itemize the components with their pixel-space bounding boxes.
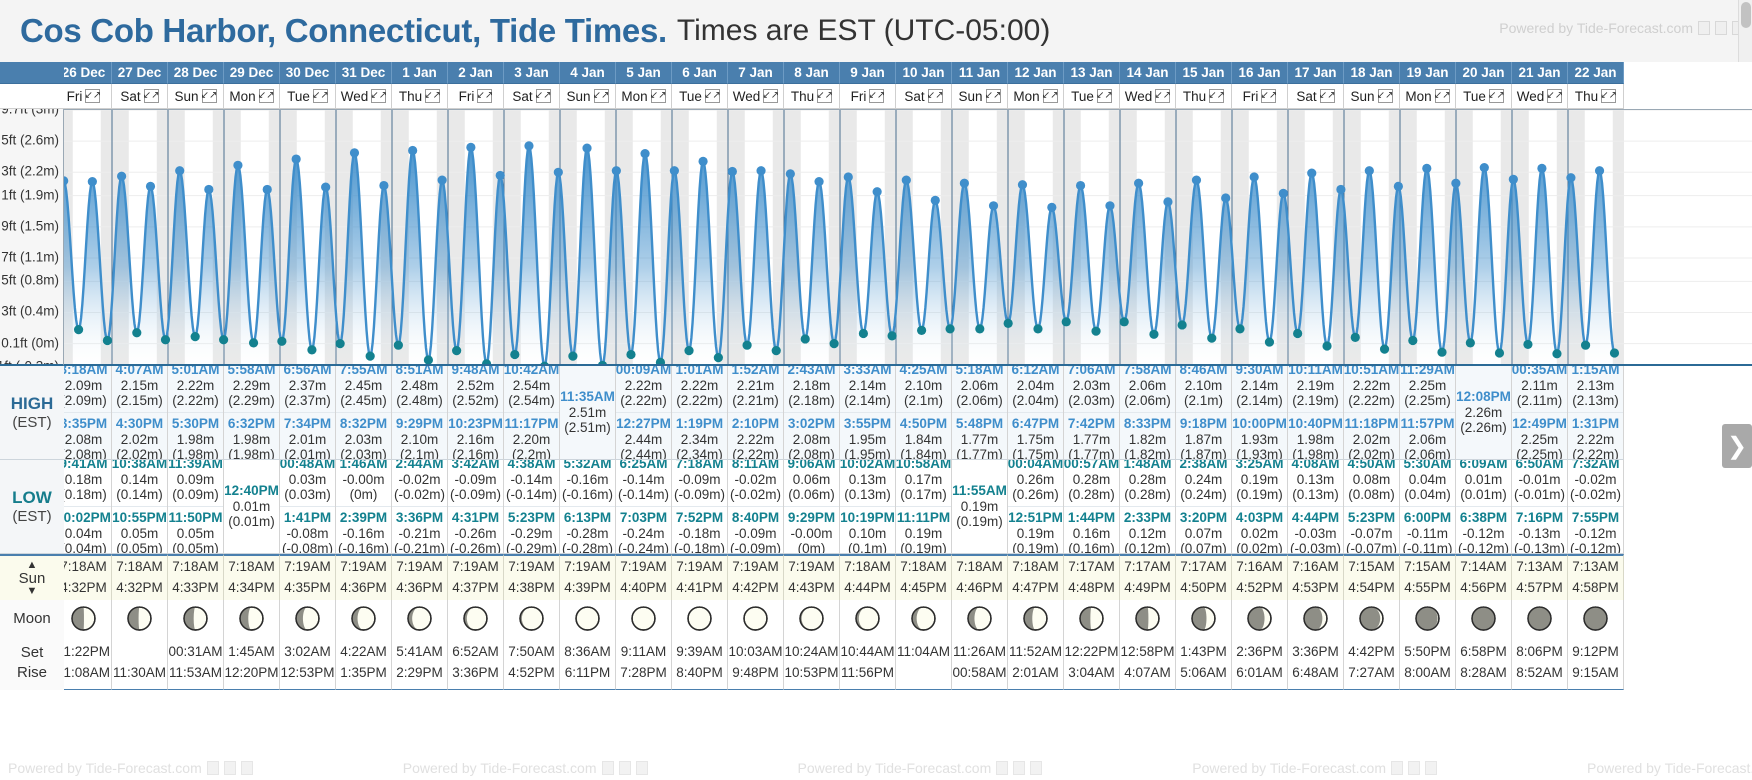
tide-event-time: 8:32PM (340, 416, 387, 432)
tide-event-height: 0.04m (65, 526, 103, 542)
tide-event-height-alt: (-0.28m) (562, 541, 613, 554)
weekday-label: Mon (621, 89, 647, 104)
tide-event: 3:25AM0.19m(0.19m) (1235, 460, 1283, 503)
sunset-arrow-icon: ▼ (27, 586, 38, 597)
high-tide-cell: 5:18AM2.06m(2.06m)5:48PM1.77m(1.77m) (952, 366, 1008, 460)
day-date-header[interactable]: 31 Dec (336, 62, 392, 84)
tide-event: 00:09AM2.22m(2.22m) (616, 366, 671, 409)
tide-event-time: 7:55PM (1572, 510, 1619, 526)
low-tide-marker (917, 326, 926, 335)
moonrise-label: Rise (17, 663, 47, 683)
high-tide-cell: 2:43AM2.18m(2.18m)3:02PM2.08m(2.08m) (784, 366, 840, 460)
day-weekday-header: Tue↙↗ (1456, 84, 1512, 109)
moonrise-time: 7:28PM (620, 663, 667, 683)
expand-icon[interactable]: ↙↗ (1155, 89, 1170, 103)
moon-cell (448, 600, 504, 636)
tide-event-time: 10:42AM (504, 366, 559, 378)
sunrise-time: 7:19AM (340, 557, 387, 578)
tide-event: 3:36PM-0.21m(-0.21m) (392, 506, 447, 554)
low-tide-marker (684, 346, 693, 355)
expand-icon[interactable]: ↙↗ (1378, 89, 1393, 103)
expand-icon[interactable]: ↙↗ (869, 89, 884, 103)
day-weekday-header: Sun↙↗ (1344, 84, 1400, 109)
expand-icon[interactable]: ↙↗ (986, 89, 1001, 103)
tide-event-height: -0.07m (1350, 526, 1392, 542)
tide-event-time: 12:51PM (1008, 510, 1063, 526)
weekday-label: Wed (341, 89, 369, 104)
moonrise-time: 9:15AM (1572, 663, 1619, 683)
high-tide-marker (408, 146, 417, 155)
moonrise-time: 6:48AM (1292, 663, 1339, 683)
tide-event-height: 2.03m (345, 432, 383, 448)
powered-by-text: Powered by Tide-Forecast.com (1499, 20, 1693, 36)
high-tide-marker (1134, 179, 1143, 188)
high-tide-marker (873, 187, 882, 196)
day-weekday-header: Mon↙↗ (1008, 84, 1064, 109)
tide-event: 4:08AM0.13m(0.13m) (1291, 460, 1339, 503)
tide-event-height: 1.98m (1297, 432, 1335, 448)
day-date-header[interactable]: 14 Jan (1120, 62, 1176, 84)
tide-event-time: 6:32PM (228, 416, 275, 432)
low-tide-cell: 10:02AM0.13m(0.13m)10:19PM0.10m(0.1m) (840, 460, 896, 554)
tide-event-time: 10:40PM (1288, 416, 1343, 432)
moon-phase-icon (519, 606, 544, 631)
moon-cell (1568, 600, 1624, 636)
moon-cell (1232, 600, 1288, 636)
expand-icon[interactable]: ↙↗ (536, 89, 551, 103)
tide-event-height: -0.02m (734, 472, 776, 488)
expand-icon[interactable]: ↙↗ (1043, 89, 1058, 103)
expand-icon[interactable]: ↙↗ (1261, 89, 1276, 103)
day-date-header[interactable]: 16 Jan (1232, 62, 1288, 84)
tide-event: 8:11AM-0.02m(-0.02m) (730, 460, 781, 503)
weekday-label: Sun (1350, 89, 1374, 104)
low-tide-cell: 9:06AM0.06m(0.06m)9:29PM-0.00m(0m) (784, 460, 840, 554)
tide-event-height: 2.48m (401, 378, 439, 394)
high-tide-cell: 10:42AM2.54m(2.54m)11:17PM2.20m(2.2m) (504, 366, 560, 460)
tide-event-height: 2.22m (737, 432, 775, 448)
day-date-header[interactable]: 27 Dec (112, 62, 168, 84)
scrollbar-thumb[interactable] (1741, 2, 1751, 28)
tide-event-time: 00:57AM (1064, 460, 1119, 472)
day-date-header[interactable]: 3 Jan (504, 62, 560, 84)
day-date-header[interactable]: 28 Dec (168, 62, 224, 84)
scroll-right-button[interactable]: ❯ (1722, 424, 1752, 468)
low-tide-cell: 6:50AM-0.01m(-0.01m)7:16PM-0.13m(-0.13m) (1512, 460, 1568, 554)
low-tide-marker (742, 341, 751, 350)
tide-event-time: 10:55PM (112, 510, 167, 526)
moon-set-rise-cell: 11:52AM2:01AM (1008, 636, 1064, 690)
low-tide-marker (1004, 319, 1013, 328)
moonset-time: 4:42PM (1348, 642, 1395, 662)
tide-event-time: 11:35AM (560, 389, 615, 405)
tide-event-time: 6:47PM (1012, 416, 1059, 432)
tide-event-height: 2.22m (1353, 378, 1391, 394)
expand-icon[interactable]: ↙↗ (85, 89, 100, 103)
expand-icon[interactable]: ↙↗ (763, 89, 778, 103)
day-weekday-header: Tue↙↗ (1064, 84, 1120, 109)
tide-event: 10:42AM2.54m(2.54m) (504, 366, 559, 409)
tide-event-time: 8:51AM (395, 366, 443, 378)
day-date-header[interactable]: 7 Jan (728, 62, 784, 84)
sun-cell: 7:19AM4:43PM (784, 554, 840, 600)
tide-event: 4:30PM2.02m(2.02m) (112, 412, 167, 460)
moon-set-rise-cell: 4:22AM1:35PM (336, 636, 392, 690)
tide-event: 00:04AM0.26m(0.26m) (1008, 460, 1063, 503)
sun-cell: 7:19AM4:36PM (336, 554, 392, 600)
tide-event: 9:41AM0.18m(0.18m) (64, 460, 108, 503)
page-header: Cos Cob Harbor, Connecticut, Tide Times.… (0, 0, 1752, 62)
tide-event-height: 1.82m (1129, 432, 1167, 448)
tide-event-height-alt: (-0.29m) (506, 541, 557, 554)
day-date-header[interactable]: 12 Jan (1008, 62, 1064, 84)
day-date-header[interactable]: 20 Jan (1456, 62, 1512, 84)
moonset-time: 11:26AM (953, 642, 1006, 662)
expand-icon[interactable]: ↙↗ (371, 89, 386, 103)
tide-event: 10:38AM0.14m(0.14m) (112, 460, 167, 503)
moon-phase-icon (239, 606, 264, 631)
day-date-header[interactable]: 17 Jan (1288, 62, 1344, 84)
tide-event-height-alt: (2.22m) (620, 393, 667, 409)
day-date-header[interactable]: 30 Dec (280, 62, 336, 84)
day-weekday-header: Mon↙↗ (1400, 84, 1456, 109)
moon-set-rise-cell: 9:11AM7:28PM (616, 636, 672, 690)
moon-set-rise-cell: 4:42PM7:27AM (1344, 636, 1400, 690)
row-label-set-rise: Set Rise (0, 636, 64, 690)
tide-event-time: 7:32AM (1571, 460, 1619, 472)
moonset-time: 11:04AM (897, 642, 950, 662)
moonset-time: 7:50AM (508, 642, 555, 662)
tide-event-time: 1:48AM (1123, 460, 1171, 472)
day-date-header[interactable]: 6 Jan (672, 62, 728, 84)
tide-event: 2:38AM0.24m(0.24m) (1179, 460, 1227, 503)
weekday-label: Sat (512, 89, 532, 104)
tide-event-height-alt: (2.04m) (1012, 393, 1059, 409)
low-tide-marker (1523, 340, 1532, 349)
tide-event: 11:50PM0.05m(0.05m) (168, 506, 223, 554)
expand-icon[interactable]: ↙↗ (705, 89, 720, 103)
high-tide-marker (554, 168, 563, 177)
low-tide-cell: 3:42AM-0.09m(-0.09m)4:31PM-0.26m(-0.26m) (448, 460, 504, 554)
sunrise-time: 7:19AM (284, 557, 331, 578)
day-date-header[interactable]: 1 Jan (392, 62, 448, 84)
tide-event: 7:16PM-0.13m(-0.13m) (1512, 506, 1567, 554)
moonrise-time: 6:01AM (1236, 663, 1283, 683)
moon-phase-icon (1303, 606, 1328, 631)
moonrise-time: 9:48PM (732, 663, 779, 683)
expand-icon[interactable]: ↙↗ (1320, 89, 1335, 103)
sunset-time: 4:32PM (64, 578, 107, 599)
day-date-header[interactable]: 4 Jan (560, 62, 616, 84)
tide-event-time: 10:19PM (840, 510, 895, 526)
tide-event-height: 2.54m (513, 378, 551, 394)
tide-event: 6:13PM-0.28m(-0.28m) (560, 506, 615, 554)
tide-event: 1:31PM2.22m(2.22m) (1568, 412, 1623, 460)
low-tide-marker (132, 328, 141, 337)
day-date-header[interactable]: 26 Dec (64, 62, 112, 84)
day-date-header[interactable]: 15 Jan (1176, 62, 1232, 84)
moonset-time: 11:52AM (1009, 642, 1062, 662)
tide-event: 11:55AM0.19m(0.19m) (952, 483, 1007, 530)
sun-cell: 7:19AM4:40PM (616, 554, 672, 600)
day-date-header[interactable]: 11 Jan (952, 62, 1008, 84)
high-tide-marker (960, 179, 969, 188)
high-timezone-label: (EST) (12, 414, 51, 431)
moonset-time: 5:50PM (1404, 642, 1451, 662)
day-date-header[interactable]: 29 Dec (224, 62, 280, 84)
tide-event-time: 4:50AM (1347, 460, 1395, 472)
day-date-header[interactable]: 21 Jan (1512, 62, 1568, 84)
day-weekday-header: Sun↙↗ (952, 84, 1008, 109)
high-tide-marker (786, 169, 795, 178)
low-tide-cell: 10:38AM0.14m(0.14m)10:55PM0.05m(0.05m) (112, 460, 168, 554)
sun-cell: 7:15AM4:55PM (1400, 554, 1456, 600)
row-label-low: LOW (EST) (0, 460, 64, 554)
low-tide-marker (1380, 344, 1389, 353)
high-tide-marker (756, 166, 765, 175)
moon-set-rise-cell: 3:36PM6:48AM (1288, 636, 1344, 690)
expand-icon[interactable]: ↙↗ (651, 89, 666, 103)
high-tide-cell: 10:51AM2.22m(2.22m)11:18PM2.02m(2.02m) (1344, 366, 1400, 460)
tide-event-height: -0.00m (342, 472, 384, 488)
weekday-label: Sun (958, 89, 982, 104)
high-tide-cell: 6:56AM2.37m(2.37m)7:34PM2.01m(2.01m) (280, 366, 336, 460)
high-tide-cell: 7:58AM2.06m(2.06m)8:33PM1.82m(1.82m) (1120, 366, 1176, 460)
tide-event: 11:57PM2.06m(2.06m) (1400, 412, 1455, 460)
moonset-time: 12:22PM (1064, 642, 1118, 662)
tide-event: 9:18PM1.87m(1.87m) (1176, 412, 1231, 460)
high-tide-marker (931, 196, 940, 205)
moon-set-rise-cell: 11:26AM00:58AM (952, 636, 1008, 690)
tide-event-height: 2.10m (1185, 378, 1223, 394)
tide-event-time: 4:30PM (116, 416, 163, 432)
tide-event-height-alt: (0.07m) (1180, 541, 1227, 554)
low-tide-cell: 11:55AM0.19m(0.19m) (952, 460, 1008, 554)
tide-event-height: 0.08m (1353, 472, 1391, 488)
tide-event-height: -0.24m (622, 526, 664, 542)
weekday-label: Fri (1243, 89, 1259, 104)
page-scrollbar[interactable] (1738, 0, 1752, 62)
expand-icon[interactable]: ↙↗ (1489, 89, 1504, 103)
tide-event-height-alt: (0.01m) (228, 514, 275, 530)
sunrise-time: 7:19AM (788, 557, 835, 578)
moon-cell (504, 600, 560, 636)
low-tide-marker (424, 355, 433, 364)
moon-cell (1512, 600, 1568, 636)
moon-phase-icon (295, 606, 320, 631)
day-date-header[interactable]: 13 Jan (1064, 62, 1120, 84)
tide-event: 4:25AM2.10m(2.1m) (899, 366, 947, 409)
tide-event-height: 2.25m (1521, 432, 1559, 448)
tide-event: 10:19PM0.10m(0.1m) (840, 506, 895, 554)
moon-set-rise-cell: 8:06PM8:52AM (1512, 636, 1568, 690)
tide-event: 11:39AM0.09m(0.09m) (168, 460, 223, 503)
low-tide-cell: 5:32AM-0.16m(-0.16m)6:13PM-0.28m(-0.28m) (560, 460, 616, 554)
expand-icon[interactable]: ↙↗ (1209, 89, 1224, 103)
tide-event: 1:48AM0.28m(0.28m) (1123, 460, 1171, 503)
tide-event-time: 5:23PM (1348, 510, 1395, 526)
tide-event-height: 2.44m (625, 432, 663, 448)
low-timezone-label: (EST) (12, 508, 51, 525)
expand-icon[interactable]: ↙↗ (259, 89, 274, 103)
sunrise-time: 7:18AM (116, 557, 163, 578)
tide-event-height: 1.95m (849, 432, 887, 448)
sunset-time: 4:42PM (732, 578, 779, 599)
tide-event-height-alt: (2.52m) (452, 393, 499, 409)
high-tide-cell: 5:58AM2.29m(2.29m)6:32PM1.98m(1.98m) (224, 366, 280, 460)
day-date-header[interactable]: 22 Jan (1568, 62, 1624, 84)
day-date-header[interactable]: 2 Jan (448, 62, 504, 84)
day-weekday-header: Thu↙↗ (784, 84, 840, 109)
tide-event-height: 2.06m (961, 378, 999, 394)
sunset-time: 4:35PM (284, 578, 331, 599)
tide-event-height: 2.22m (625, 378, 663, 394)
low-tide-cell: 4:50AM0.08m(0.08m)5:23PM-0.07m(-0.07m) (1344, 460, 1400, 554)
tide-event-height-alt: (0.04m) (64, 541, 107, 554)
day-date-header[interactable]: 10 Jan (896, 62, 952, 84)
sun-cell: 7:18AM4:47PM (1008, 554, 1064, 600)
tide-event-height: -0.28m (566, 526, 608, 542)
weekday-label: Thu (399, 89, 422, 104)
tide-event-height: 0.07m (1185, 526, 1223, 542)
high-tide-marker (117, 172, 126, 181)
high-tide-marker (1394, 182, 1403, 191)
high-tide-marker (989, 201, 998, 210)
expand-icon[interactable]: ↙↗ (313, 89, 328, 103)
tide-event-height-alt: (-0.26m) (450, 541, 501, 554)
tide-event: 10:00PM1.93m(1.93m) (1232, 412, 1287, 460)
high-tide-marker (1279, 189, 1288, 198)
tide-event-height: 2.10m (401, 432, 439, 448)
day-date-header[interactable]: 19 Jan (1400, 62, 1456, 84)
weekday-label: Tue (1463, 89, 1486, 104)
tide-event-time: 1:46AM (339, 460, 387, 472)
moonrise-time: 11:30AM (113, 663, 166, 683)
expand-icon[interactable]: ↙↗ (817, 89, 832, 103)
tide-event-height: 0.19m (1241, 472, 1279, 488)
y-axis-tick-label: 9.7ft (3m) (1, 109, 59, 117)
expand-icon[interactable]: ↙↗ (202, 89, 217, 103)
tide-event-height-alt: (2.02m) (1348, 447, 1395, 460)
tide-event-time: 4:25AM (899, 366, 947, 378)
tide-event: 7:18AM-0.09m(-0.09m) (674, 460, 725, 503)
moon-cell (1064, 600, 1120, 636)
moonset-time: 12:58PM (1120, 642, 1174, 662)
tide-event-time: 12:08PM (1456, 389, 1511, 405)
expand-icon[interactable]: ↙↗ (1097, 89, 1112, 103)
expand-icon[interactable]: ↙↗ (477, 89, 492, 103)
high-tide-marker (582, 144, 591, 153)
high-tide-marker (728, 167, 737, 176)
expand-icon[interactable]: ↙↗ (1547, 89, 1562, 103)
moon-phase-icon (855, 606, 880, 631)
tide-event-height-alt: (0.1m) (848, 541, 887, 554)
high-tide-cell: 8:46AM2.10m(2.1m)9:18PM1.87m(1.87m) (1176, 366, 1232, 460)
tide-event-height: 0.03m (289, 472, 327, 488)
low-tide-cell: 1:46AM-0.00m(0m)2:39PM-0.16m(-0.16m) (336, 460, 392, 554)
tide-event-time: 9:41AM (64, 460, 108, 472)
low-tide-marker (568, 352, 577, 361)
tide-event-height-alt: (0.08m) (1348, 487, 1395, 503)
expand-icon[interactable]: ↙↗ (144, 89, 159, 103)
tide-event-height: -0.16m (342, 526, 384, 542)
tide-event-height-alt: (0.02m) (1236, 541, 1283, 554)
low-tide-marker (1091, 327, 1100, 336)
high-tide-cell: 1:01AM2.22m(2.22m)1:19PM2.34m(2.34m) (672, 366, 728, 460)
low-tide-cell: 4:08AM0.13m(0.13m)4:44PM-0.03m(-0.03m) (1288, 460, 1344, 554)
sun-cell: 7:18AM4:34PM (224, 554, 280, 600)
tide-event-height: -0.14m (622, 472, 664, 488)
high-tide-marker (379, 181, 388, 190)
day-date-header[interactable]: 18 Jan (1344, 62, 1400, 84)
moonrise-time: 8:52AM (1516, 663, 1563, 683)
day-weekday-header: Mon↙↗ (224, 84, 280, 109)
tide-event-height-alt: (1.98m) (172, 447, 219, 460)
tide-event: 10:11AM2.19m(2.19m) (1288, 366, 1343, 409)
moon-cell (1008, 600, 1064, 636)
sunrise-time: 7:16AM (1236, 557, 1283, 578)
tide-event: 6:32PM1.98m(1.98m) (224, 412, 279, 460)
moon-phase-icon (1191, 606, 1216, 631)
tide-event-height-alt: (1.95m) (844, 447, 891, 460)
expand-icon[interactable]: ↙↗ (594, 89, 609, 103)
tide-event-height: 0.10m (849, 526, 887, 542)
tide-event: 10:23PM2.16m(2.16m) (448, 412, 503, 460)
tide-event: 00:48AM0.03m(0.03m) (280, 460, 335, 503)
low-tide-cell: 3:25AM0.19m(0.19m)4:03PM0.02m(0.02m) (1232, 460, 1288, 554)
high-tide-cell: 4:25AM2.10m(2.1m)4:50PM1.84m(1.84m) (896, 366, 952, 460)
tide-event-time: 11:39AM (168, 460, 223, 472)
moon-phase-icon (183, 606, 208, 631)
tide-event: 9:48AM2.52m(2.52m) (451, 366, 499, 409)
low-tide-marker (1265, 337, 1274, 346)
expand-icon[interactable]: ↙↗ (928, 89, 943, 103)
tide-event: 6:47PM1.75m(1.75m) (1008, 412, 1063, 460)
tide-event-height: -0.26m (454, 526, 496, 542)
tide-event-height-alt: (2.22m) (172, 393, 219, 409)
day-weekday-header: Thu↙↗ (1568, 84, 1624, 109)
expand-icon[interactable]: ↙↗ (425, 89, 440, 103)
day-date-header[interactable]: 8 Jan (784, 62, 840, 84)
moon-cell (1344, 600, 1400, 636)
day-date-header[interactable]: 5 Jan (616, 62, 672, 84)
sunset-time: 4:36PM (340, 578, 387, 599)
tide-event: 3:55PM1.95m(1.95m) (840, 412, 895, 460)
tide-event-time: 2:39PM (340, 510, 387, 526)
day-date-header[interactable]: 9 Jan (840, 62, 896, 84)
weekday-label: Fri (851, 89, 867, 104)
tide-event: 6:50AM-0.01m(-0.01m) (1514, 460, 1565, 503)
tide-event-height-alt: (0.04m) (1404, 487, 1451, 503)
expand-icon[interactable]: ↙↗ (1435, 89, 1450, 103)
weekday-label: Thu (791, 89, 814, 104)
low-tide-cell: 2:38AM0.24m(0.24m)3:20PM0.07m(0.07m) (1176, 460, 1232, 554)
expand-icon[interactable]: ↙↗ (1601, 89, 1616, 103)
tide-event-time: 6:00PM (1404, 510, 1451, 526)
moonset-time: 1:43PM (1180, 642, 1227, 662)
tide-event-height-alt: (-0.14m) (618, 487, 669, 503)
low-tide-cell: 1:48AM0.28m(0.28m)2:33PM0.12m(0.12m) (1120, 460, 1176, 554)
high-tide-cell: 9:30AM2.14m(2.14m)10:00PM1.93m(1.93m) (1232, 366, 1288, 460)
moon-set-rise-cell: 11:04AM (896, 636, 952, 690)
high-tide-marker (263, 185, 272, 194)
tide-event: 9:29PM-0.00m(0m) (784, 506, 839, 554)
sunrise-time: 7:18AM (228, 557, 275, 578)
high-tide-marker (496, 171, 505, 180)
moon-phase-icon (1471, 606, 1496, 631)
low-tide-marker (1149, 330, 1158, 339)
low-tide-marker (1322, 341, 1331, 350)
